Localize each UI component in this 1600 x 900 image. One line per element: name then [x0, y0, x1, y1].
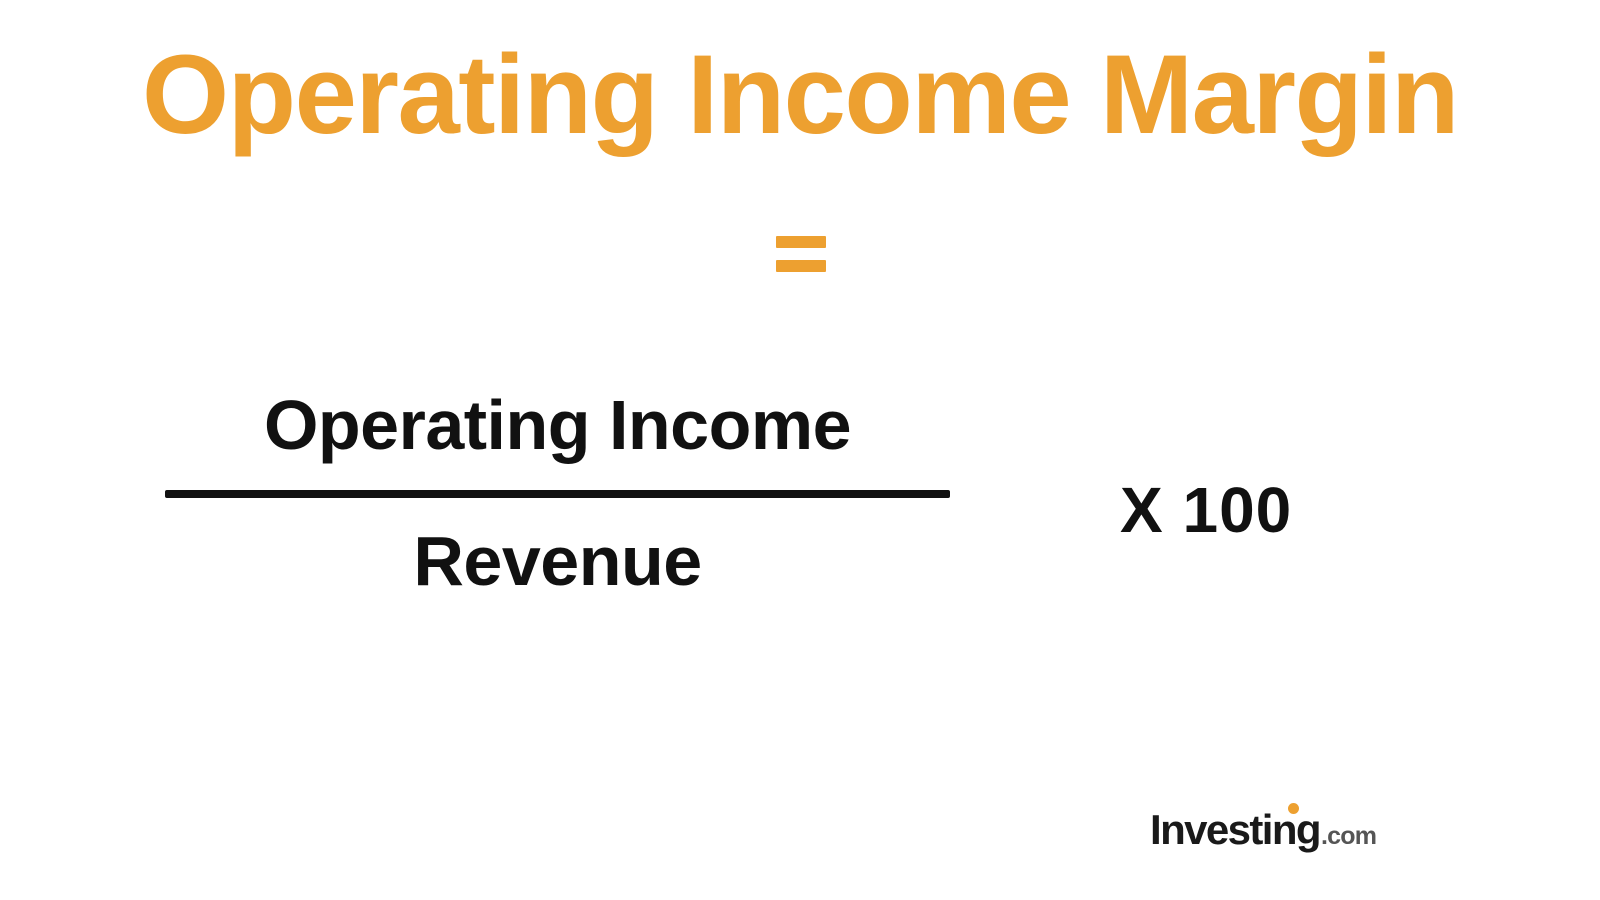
- equals-bar-bottom: [776, 260, 826, 272]
- fraction-numerator: Operating Income: [165, 390, 950, 460]
- equals-sign-icon: [776, 236, 826, 278]
- fraction-bar: [165, 490, 950, 498]
- orange-dot-icon: [1288, 803, 1299, 814]
- equals-bar-top: [776, 236, 826, 248]
- page-title: Operating Income Margin: [0, 36, 1600, 154]
- fraction-denominator: Revenue: [165, 526, 950, 596]
- formula-card: Operating Income Margin Operating Income…: [0, 0, 1600, 900]
- multiplier-text: X 100: [1120, 478, 1292, 542]
- brand-tld: .com: [1321, 822, 1376, 851]
- brand-logo: Investing .com: [1150, 806, 1376, 854]
- fraction: Operating Income Revenue: [165, 390, 950, 596]
- brand-name: Investing: [1150, 806, 1320, 854]
